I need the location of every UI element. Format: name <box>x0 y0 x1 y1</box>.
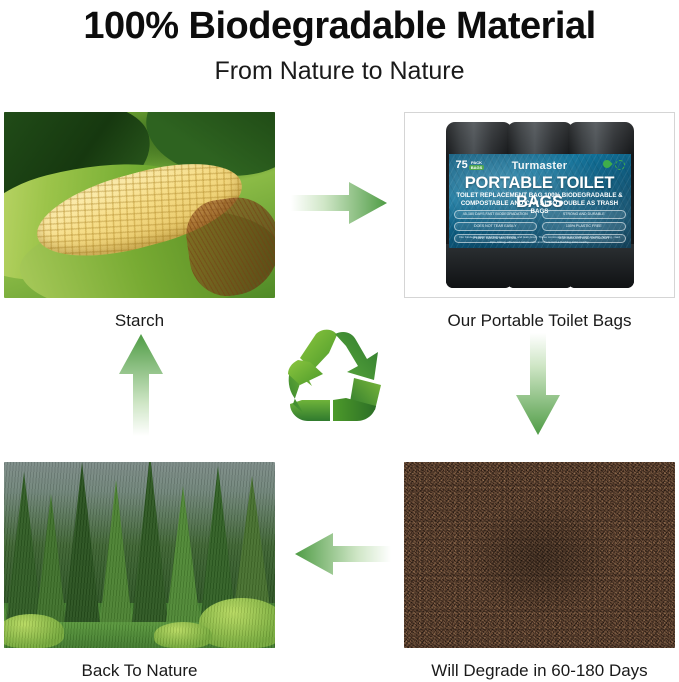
eco-icon-group <box>603 160 625 170</box>
feature-pill: DOES NOT TEAR EASILY <box>454 222 538 231</box>
package-fineprint: Our biodegradable toilet bags are durabl… <box>457 235 623 244</box>
corn-photo <box>4 112 275 298</box>
cycle-step-starch: Starch <box>4 112 275 332</box>
product-photo: 75 PACK BAGS Turmaster PORTABLE TOILET B… <box>404 112 675 298</box>
header: 100% Biodegradable Material From Nature … <box>0 0 679 86</box>
roll-sheen <box>507 122 573 156</box>
caption-product: Our Portable Toilet Bags <box>404 298 675 332</box>
arrow-right-icon <box>291 181 388 225</box>
recycle-symbol-icon <box>288 322 392 426</box>
caption-starch: Starch <box>4 298 275 332</box>
photo-grain <box>4 462 275 648</box>
roll-base <box>446 244 512 288</box>
leaf-icon <box>601 158 612 169</box>
arrow-up-icon <box>118 333 164 436</box>
arrow-down-icon <box>515 333 561 436</box>
cycle-step-product: 75 PACK BAGS Turmaster PORTABLE TOILET B… <box>404 112 675 332</box>
cycle-step-degrade: Will Degrade in 60-180 Days <box>404 462 675 682</box>
roll-sheen <box>446 122 512 156</box>
arrow-left-icon <box>294 532 391 576</box>
roll-base <box>507 244 573 288</box>
page-subtitle: From Nature to Nature <box>0 48 679 86</box>
caption-degrade: Will Degrade in 60-180 Days <box>404 648 675 682</box>
feature-pill: 45-180 DAYS FAST BIODEGRADATION <box>454 210 538 219</box>
recycle-icon <box>615 160 625 170</box>
roll-sheen <box>568 122 634 156</box>
soil-photo <box>404 462 675 648</box>
caption-nature: Back To Nature <box>4 648 275 682</box>
toilet-bag-rolls: 75 PACK BAGS Turmaster PORTABLE TOILET B… <box>446 122 634 288</box>
package-label: 75 PACK BAGS Turmaster PORTABLE TOILET B… <box>449 154 631 248</box>
roll-base <box>568 244 634 288</box>
forest-photo <box>4 462 275 648</box>
cycle-step-nature: Back To Nature <box>4 462 275 682</box>
feature-pill: STRONG AND DURABLE <box>542 210 626 219</box>
feature-pill: 100% PLASTIC FREE <box>542 222 626 231</box>
page-title: 100% Biodegradable Material <box>0 0 679 48</box>
